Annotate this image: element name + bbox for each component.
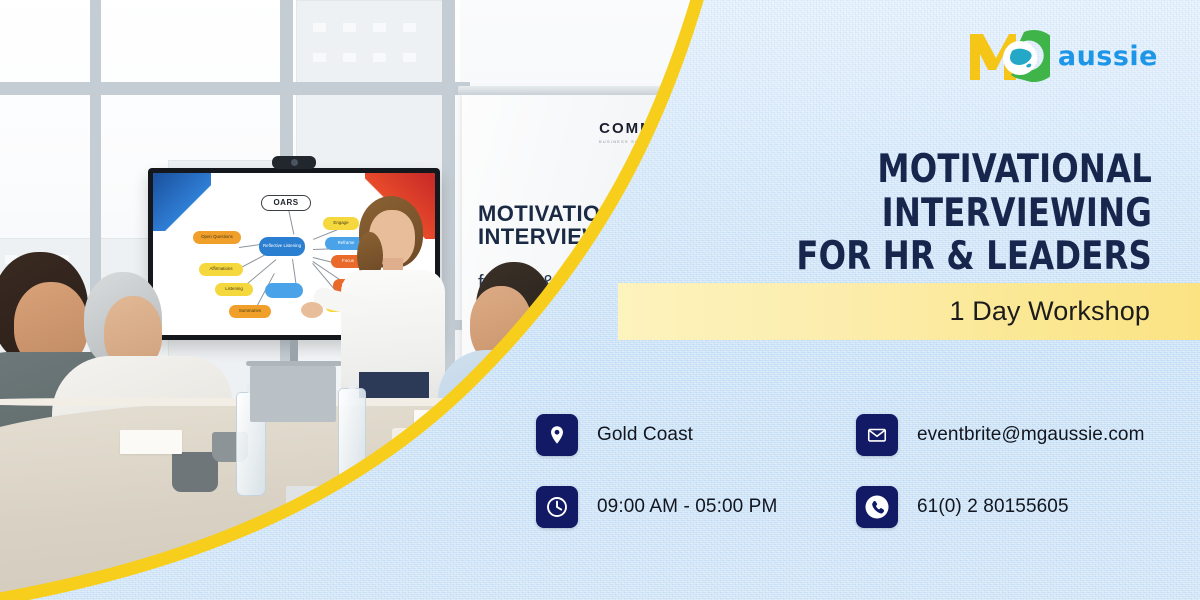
detail-phone[interactable]: 61(0) 2 80155605 [856,486,1176,528]
event-banner: COMNY BUSINESS SOLUTIONS MOTIVATIONAL IN… [0,0,1200,600]
detail-email[interactable]: eventbrite@mgaussie.com [856,414,1176,456]
mg-aussie-logo-icon [966,28,1050,84]
location-pin-icon [536,414,578,456]
detail-email-text: eventbrite@mgaussie.com [917,424,1145,446]
details-row: Gold Coast eventbrite@mgaussie.com [536,414,1176,456]
title-line-2: FOR HR & LEADERS [637,235,1152,279]
event-details: Gold Coast eventbrite@mgaussie.com [536,414,1176,558]
detail-location-text: Gold Coast [597,424,693,446]
title-line-1: MOTIVATIONAL INTERVIEWING [637,148,1152,235]
ribbon-label: 1 Day Workshop [950,296,1200,327]
detail-location[interactable]: Gold Coast [536,414,856,456]
detail-time[interactable]: 09:00 AM - 05:00 PM [536,486,856,528]
brand-wordmark: aussie [1058,41,1158,72]
page-title: MOTIVATIONAL INTERVIEWING FOR HR & LEADE… [637,148,1152,279]
workshop-ribbon: 1 Day Workshop [618,283,1200,340]
phone-icon [856,486,898,528]
detail-phone-text: 61(0) 2 80155605 [917,496,1069,518]
brand-logo[interactable]: aussie [966,28,1158,84]
clock-icon [536,486,578,528]
details-row: 09:00 AM - 05:00 PM 61(0) 2 80155605 [536,486,1176,528]
detail-time-text: 09:00 AM - 05:00 PM [597,496,777,518]
envelope-icon [856,414,898,456]
